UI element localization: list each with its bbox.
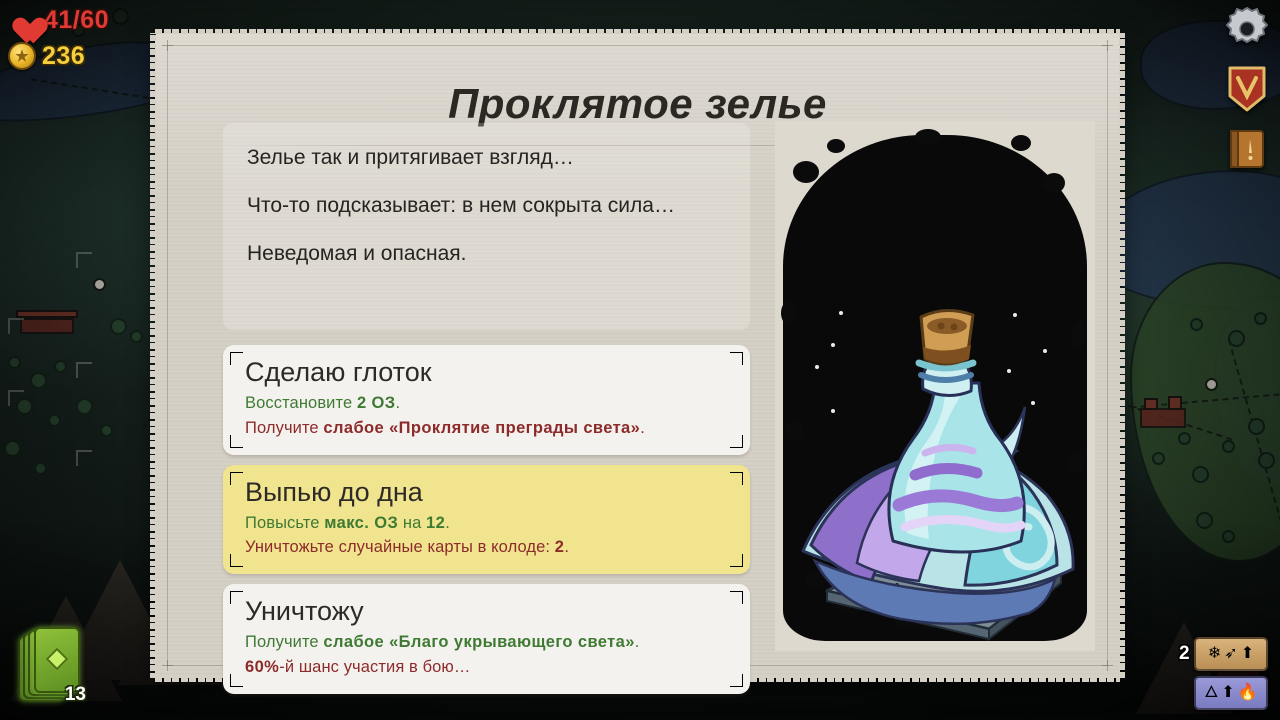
option-effect: 60%-й шанс участия в бою… (245, 655, 728, 680)
option-card-2[interactable]: Выпью до дна Повысьте макс. ОЗ на 12. Ун… (223, 465, 750, 575)
map-frame-mark (76, 362, 92, 378)
map-building-roof (16, 310, 78, 318)
map-node[interactable] (1205, 378, 1218, 391)
map-tree (1222, 440, 1235, 453)
description-box: Зелье так и притягивает взгляд… Что-то п… (223, 123, 750, 330)
deck-gem-icon (46, 648, 69, 671)
effect-strong: слабое «Проклятие преграды света» (323, 419, 640, 437)
top-right-buttons (1224, 6, 1270, 172)
map-tree (110, 318, 127, 335)
game-screen: 41/60 ★ 236 (0, 0, 1280, 720)
effect-strong: 2 ОЗ (357, 394, 396, 412)
effect-text: -й шанс участия в бою… (279, 658, 470, 676)
player-stats-hud: 41/60 ★ 236 (8, 2, 109, 74)
health-row: 41/60 (8, 2, 109, 38)
map-tree (76, 398, 93, 415)
map-frame-mark (76, 450, 92, 466)
description-line: Неведомая и опасная. (247, 239, 726, 269)
map-building (1140, 408, 1186, 428)
up-arrow-icon: ⬆ (1221, 685, 1234, 701)
book-icon[interactable] (1225, 126, 1269, 172)
map-tree (1228, 330, 1245, 347)
map-frame-mark (8, 318, 24, 334)
effect-text: Повысьте (245, 514, 324, 532)
option-label: Уничтожу (245, 596, 728, 627)
option-card-1[interactable]: Сделаю глоток Восстановите 2 ОЗ. Получит… (223, 345, 750, 455)
effect-strong: слабое «Благо укрывающего света» (323, 633, 634, 651)
map-tree (54, 360, 67, 373)
map-tree (112, 8, 129, 25)
map-tree (1178, 432, 1191, 445)
effect-text: . (640, 419, 645, 437)
map-frame-mark (76, 252, 92, 268)
gear-icon[interactable] (1224, 6, 1270, 52)
map-tree (1222, 530, 1235, 543)
option-effect: Повысьте макс. ОЗ на 12. (245, 511, 728, 536)
map-building-roof (1144, 398, 1158, 410)
effect-strong: 60% (245, 658, 279, 676)
panel-torn-edge-top (155, 29, 1120, 34)
banner-icon[interactable] (1226, 64, 1268, 114)
effect-text: . (395, 394, 400, 412)
option-effect: Получите слабое «Проклятие преграды свет… (245, 416, 728, 441)
effect-strong: макс. ОЗ (324, 514, 398, 532)
map-tree (4, 440, 21, 457)
ability-badges: 2 ❄ ➶ ⬆ 🜂 ⬆ 🔥 (1194, 637, 1268, 710)
option-effect: Уничтожьте случайные карты в колоде: 2. (245, 535, 728, 560)
map-frame-mark (8, 390, 24, 406)
option-effect: Получите слабое «Благо укрывающего света… (245, 630, 728, 655)
map-building (20, 318, 74, 334)
map-tree (1196, 512, 1213, 529)
up-arrow-icon: ⬆ (1241, 646, 1254, 662)
gold-row: ★ 236 (8, 38, 109, 74)
heart-icon (8, 7, 38, 34)
deck-widget[interactable]: 13 (18, 624, 88, 710)
flame-arrow-icon: 🜂 (1204, 685, 1218, 701)
map-building-roof (1168, 396, 1182, 410)
corner-cross-icon (1102, 660, 1113, 671)
map-tree (34, 462, 47, 475)
corner-cross-icon (162, 660, 173, 671)
map-tree (48, 414, 61, 427)
option-label: Выпью до дна (245, 477, 728, 508)
corner-cross-icon (162, 40, 173, 51)
description-column: Зелье так и притягивает взгляд… Что-то п… (223, 123, 750, 330)
effect-text: . (445, 514, 450, 532)
map-tree (1152, 452, 1165, 465)
map-tree (8, 356, 21, 369)
effect-text: Восстановите (245, 394, 357, 412)
health-value: 41/60 (44, 6, 109, 35)
corner-cross-icon (1102, 40, 1113, 51)
effect-text: на (398, 514, 426, 532)
map-tree (30, 372, 47, 389)
map-tree (1254, 312, 1267, 325)
option-list: Сделаю глоток Восстановите 2 ОЗ. Получит… (223, 345, 750, 694)
map-tree (130, 330, 143, 343)
snowflake-icon: ❄ (1208, 646, 1221, 662)
map-tree (1248, 418, 1265, 435)
effect-strong: 2 (555, 538, 565, 556)
map-tree (100, 424, 113, 437)
ability-count: 2 (1179, 643, 1190, 665)
map-tree (1258, 452, 1275, 469)
effect-text: Получите (245, 633, 323, 651)
potion-artwork-svg (775, 121, 1095, 651)
event-dialog-panel: Проклятое зелье Зелье так и притягивает … (155, 33, 1120, 678)
map-node[interactable] (93, 278, 106, 291)
gold-value: 236 (42, 42, 85, 71)
cursed-potion-illustration (775, 121, 1095, 651)
map-tree (1190, 318, 1203, 331)
effect-text: . (564, 538, 569, 556)
arrow-icon: ➶ (1224, 646, 1237, 662)
deck-count: 13 (65, 684, 86, 706)
effect-text: . (635, 633, 640, 651)
fire-icon: 🔥 (1238, 685, 1258, 701)
option-label: Сделаю глоток (245, 357, 728, 388)
effect-text: Уничтожьте случайные карты в колоде: (245, 538, 555, 556)
map-tree (1192, 466, 1209, 483)
ability-badge-frost-pierce[interactable]: 2 ❄ ➶ ⬆ (1194, 637, 1268, 671)
option-effect: Восстановите 2 ОЗ. (245, 391, 728, 416)
option-card-3[interactable]: Уничтожу Получите слабое «Благо укрывающ… (223, 584, 750, 694)
effect-text: Получите (245, 419, 323, 437)
description-line: Что-то подсказывает: в нем сокрыта сила… (247, 191, 726, 221)
coin-icon: ★ (8, 42, 36, 70)
ability-badge-fire-boost[interactable]: 🜂 ⬆ 🔥 (1194, 676, 1268, 710)
description-line: Зелье так и притягивает взгляд… (247, 143, 726, 173)
effect-strong: 12 (426, 514, 445, 532)
